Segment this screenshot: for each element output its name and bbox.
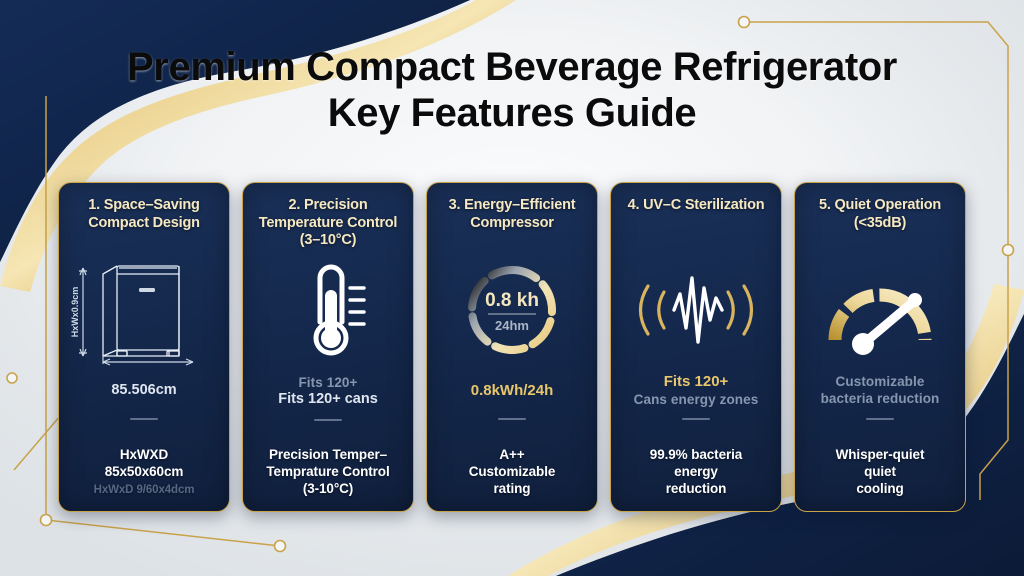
gold-node-bottom-left <box>41 515 52 526</box>
bottom-line-1: HxWXD <box>94 446 195 463</box>
bottom-line-1: 99.9% bacteria <box>650 446 742 463</box>
bottom-line-2: Temprature Control <box>266 463 389 480</box>
card-bottom-text: Precision Temper– Temprature Control (3-… <box>266 446 389 501</box>
card-mid-text: Fits 120+ Cans energy zones <box>634 371 759 411</box>
vertical-dimension-label: HxWx0.9cm <box>70 287 80 338</box>
card-mid-text: 85.506cm <box>111 371 176 411</box>
feature-card-uv-c-sterilization[interactable]: 4. UV–C Sterilization Fits 120+ Cans ene… <box>610 182 782 512</box>
feature-card-quiet-operation[interactable]: 5. Quiet Operation (<35dB) <box>794 182 966 512</box>
refrigerator-outline-icon: HxWx0.9cm <box>68 251 220 369</box>
sound-wave-icon <box>620 251 772 369</box>
bottom-line-3: rating <box>469 480 556 497</box>
card-divider <box>314 419 342 421</box>
bottom-line-1: Whisper-quiet <box>836 446 925 463</box>
gold-node-bottom-mid <box>275 541 286 552</box>
mid-line-a: Fits 120+ <box>278 375 378 392</box>
mid-line-gold: Fits 120+ <box>634 373 759 392</box>
card-heading: 3. Energy–Efficient Compressor <box>436 197 588 249</box>
bottom-faint-line: HxWxD 9/60x4dcm <box>94 483 195 497</box>
bottom-line-1: Precision Temper– <box>266 446 389 463</box>
mid-line-a: Customizable <box>821 374 940 391</box>
card-mid-text: Customizable bacteria reduction <box>821 371 940 411</box>
speedometer-gauge-icon <box>804 251 956 369</box>
card-mid-text: Fits 120+ Fits 120+ cans <box>278 372 378 412</box>
donut-value-label: 0.8 kh <box>485 290 539 311</box>
mid-line-gold: 0.8kWh/24h <box>471 382 554 401</box>
mid-line-a: Cans energy zones <box>634 392 759 409</box>
card-divider <box>866 418 894 420</box>
thermometer-icon <box>252 252 404 370</box>
title-line-1: Premium Compact Beverage Refrigerator <box>0 44 1024 90</box>
feature-card-precision-temperature-control[interactable]: 2. Precision Temperature Control (3–10°C… <box>242 182 414 512</box>
card-heading: 1. Space–Saving Compact Design <box>68 197 220 249</box>
bottom-line-1: A++ <box>469 446 556 463</box>
gold-node-top-right <box>739 17 750 28</box>
bottom-line-3: (3-10°C) <box>266 480 389 497</box>
feature-card-energy-efficient-compressor[interactable]: 3. Energy–Efficient Compressor <box>426 182 598 512</box>
card-heading: 2. Precision Temperature Control (3–10°C… <box>252 197 404 250</box>
poster-title: Premium Compact Beverage Refrigerator Ke… <box>0 44 1024 137</box>
bottom-line-2: quiet <box>836 463 925 480</box>
bottom-line-3: reduction <box>650 480 742 497</box>
title-line-2: Key Features Guide <box>0 90 1024 136</box>
card-heading: 5. Quiet Operation (<35dB) <box>804 197 956 249</box>
feature-card-space-saving-compact-design[interactable]: 1. Space–Saving Compact Design <box>58 182 230 512</box>
donut-gauge-icon: 0.8 kh 24hm <box>436 251 588 369</box>
bottom-line-3: cooling <box>836 480 925 497</box>
card-divider <box>130 418 158 420</box>
donut-sub-label: 24hm <box>495 318 529 333</box>
card-mid-text: 0.8kWh/24h <box>471 371 554 411</box>
card-bottom-text: 99.9% bacteria energy reduction <box>650 446 742 501</box>
horizontal-dimension-label: 85.506cm <box>111 382 176 400</box>
feature-cards-row: 1. Space–Saving Compact Design <box>0 182 1024 512</box>
card-bottom-text: HxWXD 85x50x60cm HxWxD 9/60x4dcm <box>94 446 195 501</box>
bottom-line-2: Customizable <box>469 463 556 480</box>
card-divider <box>682 418 710 420</box>
card-bottom-text: A++ Customizable rating <box>469 446 556 501</box>
card-bottom-text: Whisper-quiet quiet cooling <box>836 446 925 501</box>
mid-line-a2: bacteria reduction <box>821 391 940 408</box>
mid-line-b: Fits 120+ cans <box>278 391 378 409</box>
card-heading: 4. UV–C Sterilization <box>628 197 765 249</box>
poster-canvas: Premium Compact Beverage Refrigerator Ke… <box>0 0 1024 576</box>
card-divider <box>498 418 526 420</box>
bottom-line-2: energy <box>650 463 742 480</box>
bottom-line-2: 85x50x60cm <box>94 463 195 480</box>
